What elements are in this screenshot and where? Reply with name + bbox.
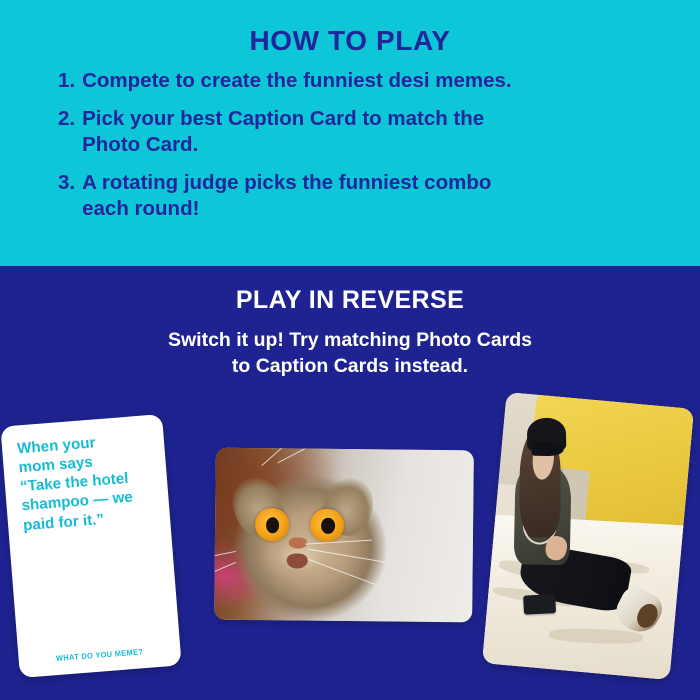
photo-card-cat — [214, 448, 474, 623]
cat-whisker — [277, 448, 323, 463]
play-in-reverse-title: PLAY IN REVERSE — [0, 286, 700, 315]
how-to-play-section: HOW TO PLAY 1. Compete to create the fun… — [0, 0, 700, 266]
cat-pupil-left — [266, 517, 280, 533]
step-number: 3. — [58, 170, 75, 195]
cat-eye-right — [310, 509, 344, 542]
step-text: A rotating judge picks the funniest comb… — [82, 170, 658, 221]
cat-eye-left — [255, 508, 289, 541]
bed-photo-image — [482, 392, 694, 680]
play-in-reverse-subtitle: Switch it up! Try matching Photo Cards t… — [0, 328, 700, 379]
phone-on-bed — [523, 594, 556, 615]
step-text: Compete to create the funniest desi meme… — [82, 68, 658, 93]
cap-brim — [532, 442, 564, 456]
cat-photo-image — [214, 448, 474, 623]
cat-nose — [288, 538, 306, 549]
promo-graphic: HOW TO PLAY 1. Compete to create the fun… — [0, 0, 700, 700]
caption-card: When your mom says “Take the hotel shamp… — [0, 414, 181, 678]
step-item: 3. A rotating judge picks the funniest c… — [58, 170, 658, 221]
step-text: Pick your best Caption Card to match the… — [82, 106, 658, 157]
cat-pupil-right — [321, 517, 335, 533]
step-number: 1. — [58, 68, 75, 93]
what-do-you-meme-logo: WHAT DO YOU MEME? — [25, 645, 174, 666]
how-to-play-title: HOW TO PLAY — [0, 25, 700, 57]
step-item: 2. Pick your best Caption Card to match … — [58, 106, 658, 157]
how-to-play-steps: 1. Compete to create the funniest desi m… — [58, 68, 658, 234]
photo-card-bed — [482, 392, 694, 680]
caption-card-text: When your mom says “Take the hotel shamp… — [16, 429, 159, 535]
step-number: 2. — [58, 106, 75, 131]
step-item: 1. Compete to create the funniest desi m… — [58, 68, 658, 93]
